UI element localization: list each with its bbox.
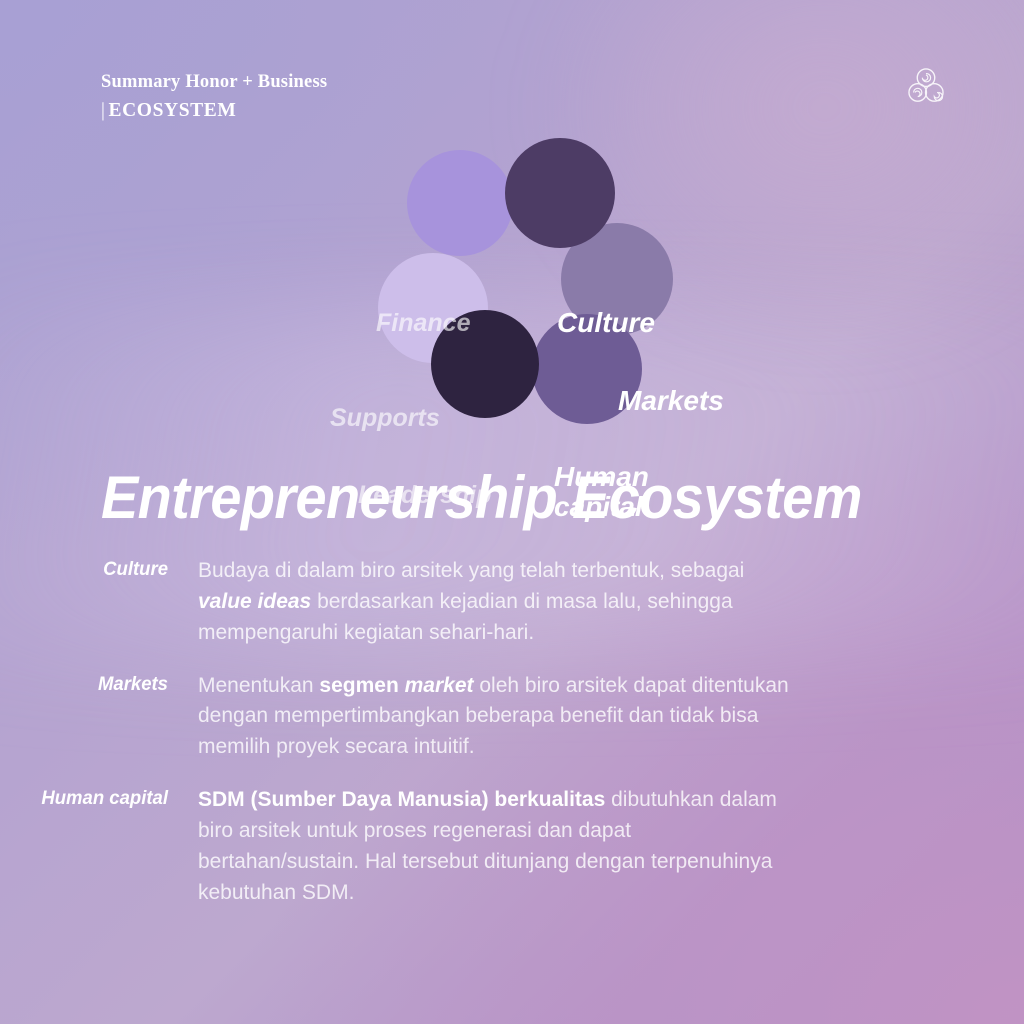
ecosystem-circle-diagram: Finance Culture Markets Supports Leaders… <box>330 128 750 440</box>
diagram-label-supports: Supports <box>330 405 440 432</box>
section-description: SDM (Sumber Daya Manusia) berkualitas di… <box>198 785 798 908</box>
section-term: Culture <box>8 556 168 582</box>
diagram-circle-finance <box>407 150 513 256</box>
section-term: Markets <box>8 671 168 697</box>
diagram-label-finance: Finance <box>376 310 470 337</box>
section-text-run: value ideas <box>198 590 311 613</box>
section-description: Budaya di dalam biro arsitek yang telah … <box>198 556 798 649</box>
section-description: Menentukan segmen market oleh biro arsit… <box>198 671 798 764</box>
section-term: Human capital <box>8 785 168 811</box>
section-list: CultureBudaya di dalam biro arsitek yang… <box>0 556 1024 931</box>
header-block: Summary Honor + Business |ECOSYSTEM <box>101 70 327 124</box>
section-text-run: SDM (Sumber Daya Manusia) berkualitas <box>198 788 605 811</box>
triskelion-spiral-logo-icon <box>903 63 949 109</box>
header-title-line1: Summary Honor + Business <box>101 70 327 95</box>
diagram-circle-culture <box>505 138 615 248</box>
diagram-label-culture: Culture <box>557 308 655 338</box>
section-text-run: market <box>405 674 474 697</box>
section-row: CultureBudaya di dalam biro arsitek yang… <box>0 556 1024 649</box>
header-ecosystem-label: ECOSYSTEM <box>109 100 237 121</box>
header-divider-bar: | <box>101 97 106 124</box>
poster-canvas: Summary Honor + Business |ECOSYSTEM Fina… <box>0 0 1024 1024</box>
section-text-run: Budaya di dalam biro arsitek yang telah … <box>198 559 744 582</box>
section-row: Human capitalSDM (Sumber Daya Manusia) b… <box>0 785 1024 908</box>
section-row: MarketsMenentukan segmen market oleh bir… <box>0 671 1024 764</box>
header-title-line2: |ECOSYSTEM <box>101 97 327 124</box>
page-title: Entrepreneurship Ecosystem <box>101 463 862 532</box>
section-text-run: segmen <box>319 674 404 697</box>
section-text-run: Menentukan <box>198 674 319 697</box>
diagram-label-markets: Markets <box>618 386 724 416</box>
